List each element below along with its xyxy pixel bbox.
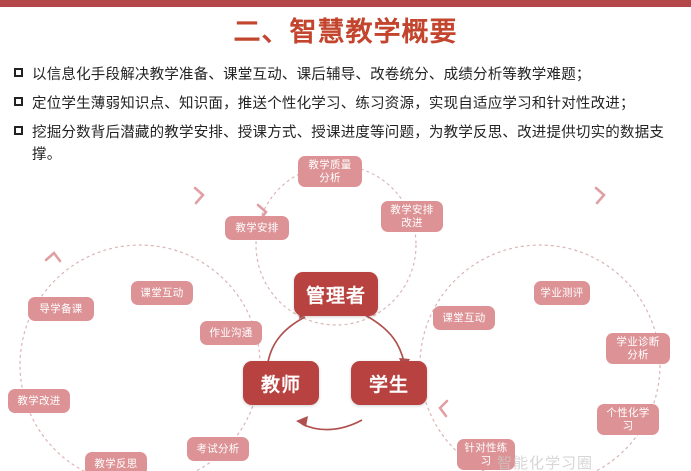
chip-lesson-preparation[interactable]: 导学备课 [28, 297, 94, 321]
chip-academic-assessment[interactable]: 学业测评 [534, 281, 590, 305]
node-teacher[interactable]: 教师 [243, 361, 319, 405]
slide-root: 二、智慧教学概要 以信息化手段解决教学准备、课堂互动、课后辅导、改卷统分、成绩分… [0, 0, 691, 471]
cycle-diagram: 管理者 教师 学生 教学质量分析 教学安排改进 教学安排 课堂互动 作业沟通 考… [0, 150, 691, 471]
chip-teaching-quality-analysis[interactable]: 教学质量分析 [298, 156, 362, 187]
chip-teacher-class-interaction[interactable]: 课堂互动 [131, 281, 193, 305]
list-item: 以信息化手段解决教学准备、课堂互动、课后辅导、改卷统分、成绩分析等教学难题； [14, 64, 679, 86]
chip-teaching-plan[interactable]: 教学安排 [225, 216, 289, 240]
bullet-text: 以信息化手段解决教学准备、课堂互动、课后辅导、改卷统分、成绩分析等教学难题； [32, 64, 591, 86]
square-bullet-icon [14, 97, 23, 106]
student-to-teacher-arrow [302, 420, 362, 430]
chip-personalized-learning[interactable]: 个性化学习 [597, 404, 659, 435]
manager-to-student-arrow [365, 315, 404, 362]
chip-homework-communication[interactable]: 作业沟通 [200, 321, 262, 345]
teacher-to-manager-arrow [268, 317, 305, 362]
chip-student-class-interaction[interactable]: 课堂互动 [433, 306, 495, 330]
node-manager[interactable]: 管理者 [294, 272, 378, 316]
chip-academic-diagnosis-analysis[interactable]: 学业诊断分析 [606, 333, 670, 364]
chip-teaching-plan-improvement[interactable]: 教学安排改进 [381, 201, 443, 232]
student-to-teacher-arrowhead [296, 416, 308, 427]
list-item: 定位学生薄弱知识点、知识面，推送个性化学习、练习资源，实现自适应学习和针对性改进… [14, 93, 679, 115]
square-bullet-icon [14, 126, 23, 135]
watermark: 智能化学习圈 [497, 452, 593, 471]
chip-teaching-improvement[interactable]: 教学改进 [8, 389, 70, 413]
page-title: 二、智慧教学概要 [0, 10, 691, 49]
chip-teaching-reflection[interactable]: 教学反思 [85, 452, 147, 471]
top-accent-bar [0, 0, 691, 7]
square-bullet-icon [14, 68, 23, 77]
node-student[interactable]: 学生 [351, 361, 427, 405]
bullet-text: 定位学生薄弱知识点、知识面，推送个性化学习、练习资源，实现自适应学习和针对性改进… [32, 93, 635, 115]
chip-exam-analysis[interactable]: 考试分析 [187, 437, 249, 461]
